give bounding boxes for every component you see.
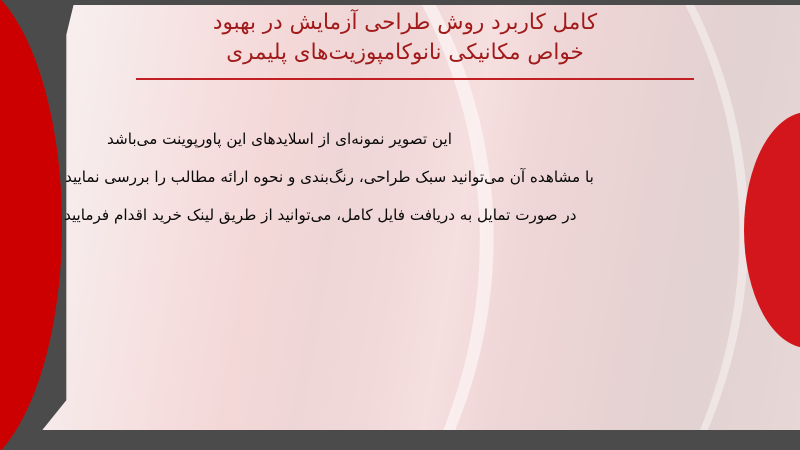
body-text-line-3: در صورت تمایل به دریافت فایل کامل، می‌تو…	[60, 196, 750, 234]
title-underline-rule	[136, 78, 694, 80]
slide-title-line-1: کامل کاربرد روش طراحی آزمایش در بهبود	[95, 8, 715, 38]
presentation-slide: کامل کاربرد روش طراحی آزمایش در بهبود خو…	[0, 0, 800, 450]
body-text-line-1: این تصویر نمونه‌ای از اسلایدهای این پاور…	[60, 120, 750, 158]
slide-title: کامل کاربرد روش طراحی آزمایش در بهبود خو…	[95, 8, 715, 68]
body-text-line-2: با مشاهده آن می‌توانید سبک طراحی، رنگ‌بن…	[60, 158, 750, 196]
slide-title-line-2: خواص مکانیکی نانوکامپوزیت‌های پلیمری	[95, 38, 715, 68]
slide-body-text: این تصویر نمونه‌ای از اسلایدهای این پاور…	[60, 120, 750, 234]
